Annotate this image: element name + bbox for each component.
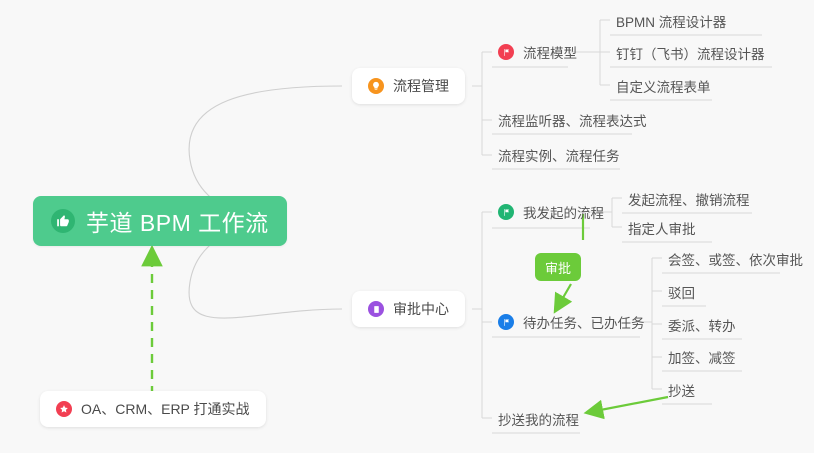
branch-node-approval-center[interactable]: 审批中心 <box>352 291 465 327</box>
branch-node-process-management[interactable]: 流程管理 <box>352 68 465 104</box>
node-label: 流程实例、流程任务 <box>498 145 620 165</box>
node-label: BPMN 流程设计器 <box>616 11 726 31</box>
node-label: 抄送我的流程 <box>498 409 579 429</box>
node-assignee-approval[interactable]: 指定人审批 <box>622 215 702 241</box>
node-label: 抄送 <box>668 380 695 400</box>
node-my-initiated[interactable]: 我发起的流程 <box>492 199 610 225</box>
node-instance-task[interactable]: 流程实例、流程任务 <box>492 142 626 168</box>
node-label: 自定义流程表单 <box>616 76 711 96</box>
node-label: 会签、或签、依次审批 <box>668 249 803 269</box>
node-label: 流程监听器、流程表达式 <box>498 110 647 130</box>
node-label: 委派、转办 <box>668 315 736 335</box>
node-custom-process-form[interactable]: 自定义流程表单 <box>610 73 717 99</box>
lightbulb-icon <box>368 78 384 94</box>
node-todo-done-tasks[interactable]: 待办任务、已办任务 <box>492 309 651 335</box>
flag-icon <box>498 44 514 60</box>
star-icon <box>56 401 72 417</box>
flag-icon <box>498 314 514 330</box>
node-cc-to-me[interactable]: 抄送我的流程 <box>492 406 585 432</box>
node-label: 指定人审批 <box>628 218 696 238</box>
node-reject[interactable]: 驳回 <box>662 279 701 305</box>
node-dingtalk-feishu-designer[interactable]: 钉钉（飞书）流程设计器 <box>610 40 771 66</box>
mindmap-canvas: 芋道 BPM 工作流 流程管理 流程模型 流程监听器、流程表达式 流程实例、流程… <box>0 0 814 453</box>
node-label: OA、CRM、ERP 打通实战 <box>81 399 250 419</box>
node-label: 流程模型 <box>523 42 577 62</box>
node-process-model[interactable]: 流程模型 <box>492 39 583 65</box>
node-label: 待办任务、已办任务 <box>523 312 645 332</box>
node-label: 发起流程、撤销流程 <box>628 189 750 209</box>
node-label: 驳回 <box>668 282 695 302</box>
node-cc[interactable]: 抄送 <box>662 377 701 403</box>
node-add-remove-sign[interactable]: 加签、减签 <box>662 344 742 370</box>
badge-label: 审批 <box>545 258 571 277</box>
approval-badge[interactable]: 审批 <box>535 253 581 281</box>
node-bpmn-designer[interactable]: BPMN 流程设计器 <box>610 8 732 34</box>
node-label: 我发起的流程 <box>523 202 604 222</box>
node-oa-crm-erp[interactable]: OA、CRM、ERP 打通实战 <box>40 391 266 427</box>
branch-label: 流程管理 <box>393 76 449 96</box>
clipboard-icon <box>368 301 384 317</box>
thumbs-up-icon <box>51 209 75 233</box>
node-listener-expression[interactable]: 流程监听器、流程表达式 <box>492 107 653 133</box>
node-label: 钉钉（飞书）流程设计器 <box>616 43 765 63</box>
node-countersign[interactable]: 会签、或签、依次审批 <box>662 246 809 272</box>
root-label: 芋道 BPM 工作流 <box>86 204 269 238</box>
node-delegate-transfer[interactable]: 委派、转办 <box>662 312 742 338</box>
branch-label: 审批中心 <box>393 299 449 319</box>
node-label: 加签、减签 <box>668 347 736 367</box>
flag-icon <box>498 204 514 220</box>
root-node[interactable]: 芋道 BPM 工作流 <box>33 196 287 246</box>
node-start-cancel-process[interactable]: 发起流程、撤销流程 <box>622 186 756 212</box>
